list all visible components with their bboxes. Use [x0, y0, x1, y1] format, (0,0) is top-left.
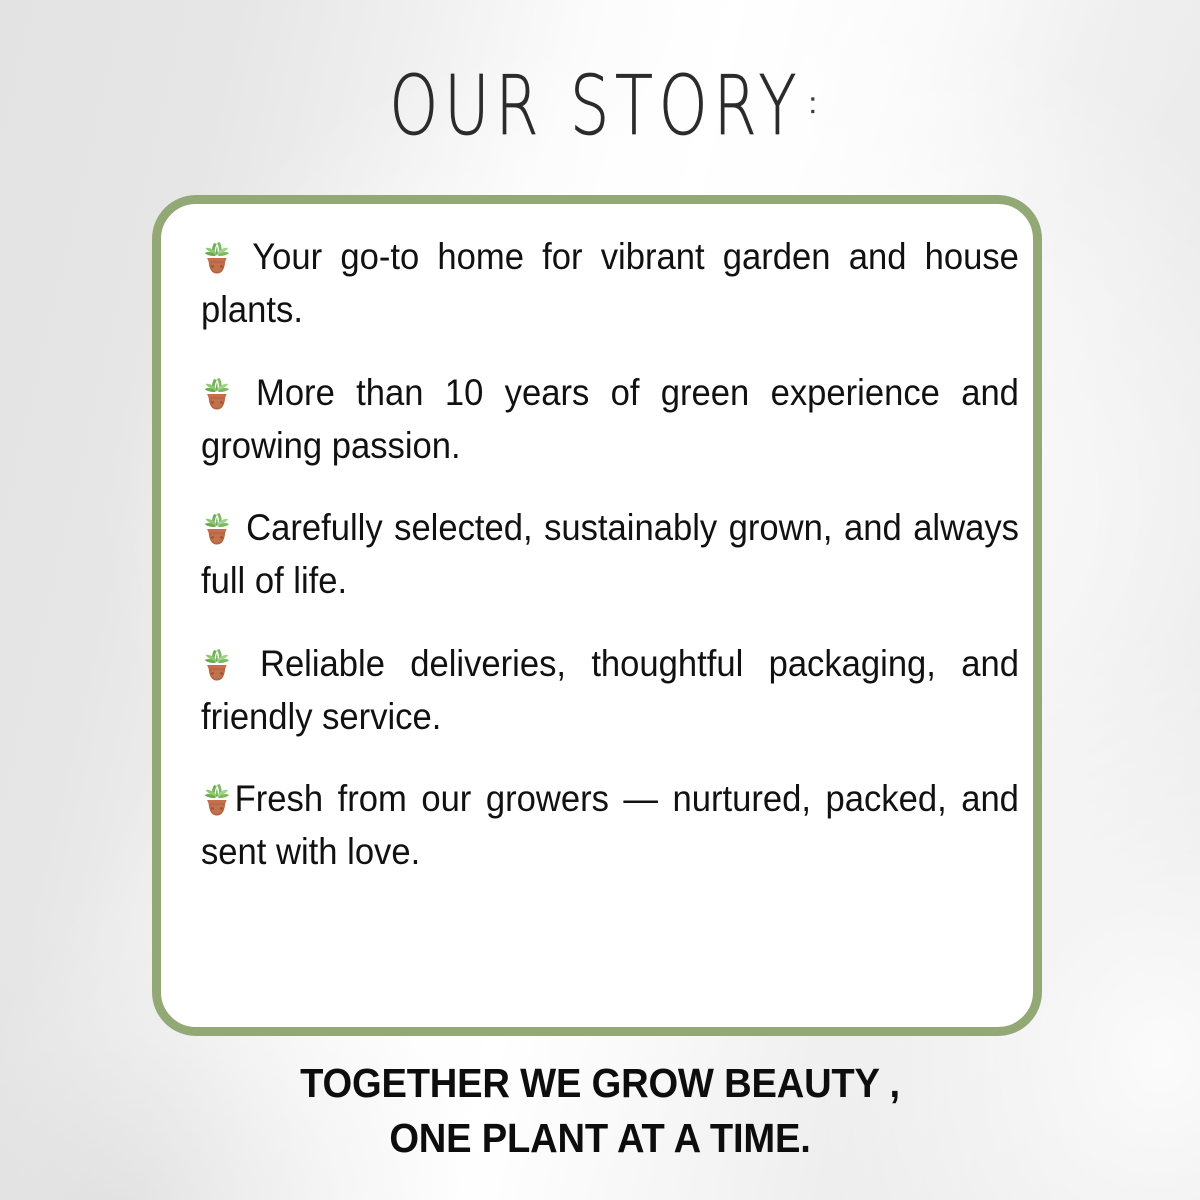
- potted-plant-icon: [201, 509, 233, 547]
- potted-plant-icon: [201, 238, 233, 276]
- potted-plant-icon: [201, 780, 233, 818]
- page-title-text: OUR STORY: [389, 66, 802, 148]
- list-item-text: Carefully selected, sustainably grown, a…: [201, 507, 1019, 601]
- list-item-text: Reliable deliveries, thoughtful packagin…: [201, 643, 1019, 737]
- footer-tagline: TOGETHER WE GROW BEAUTY , ONE PLANT AT A…: [0, 1056, 1200, 1165]
- list-item: More than 10 years of green experience a…: [201, 366, 1019, 473]
- footer-tagline-line-2: ONE PLANT AT A TIME.: [42, 1111, 1158, 1166]
- story-card: Your go-to home for vibrant garden and h…: [152, 195, 1042, 1036]
- list-item: Reliable deliveries, thoughtful packagin…: [201, 637, 1019, 744]
- poster-canvas: OUR STORY:: [0, 0, 1200, 1200]
- page-title: OUR STORY:: [0, 66, 1200, 130]
- list-item: Your go-to home for vibrant garden and h…: [201, 230, 1019, 337]
- page-title-colon: :: [809, 87, 817, 120]
- list-item: Fresh from our growers — nurtured, packe…: [201, 772, 1019, 879]
- story-list: Your go-to home for vibrant garden and h…: [201, 230, 1011, 879]
- potted-plant-icon: [201, 374, 233, 412]
- list-item-text: Fresh from our growers — nurtured, packe…: [201, 778, 1019, 872]
- potted-plant-icon: [201, 645, 233, 683]
- footer-tagline-line-1: TOGETHER WE GROW BEAUTY ,: [42, 1056, 1158, 1111]
- list-item-text: Your go-to home for vibrant garden and h…: [201, 236, 1019, 330]
- list-item-text: More than 10 years of green experience a…: [201, 372, 1019, 466]
- list-item: Carefully selected, sustainably grown, a…: [201, 501, 1019, 608]
